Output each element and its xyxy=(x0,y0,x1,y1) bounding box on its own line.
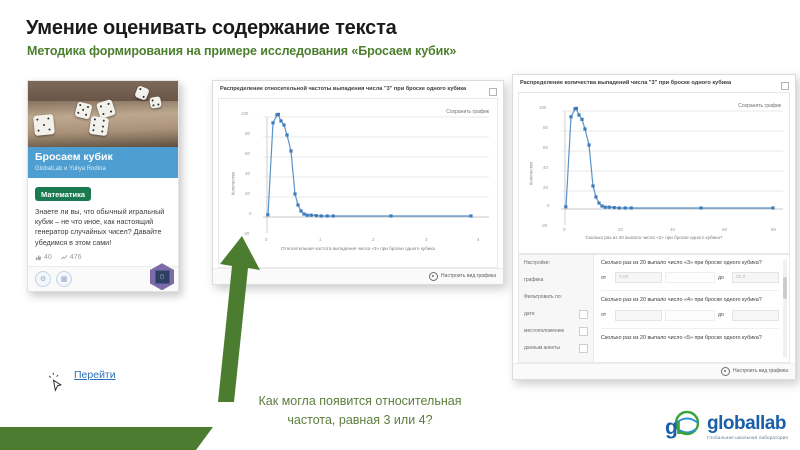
page-subtitle: Методика формирования на примере исследо… xyxy=(27,44,456,58)
card-header-band: Бросаем кубик GlobalLab и Yuliya Rodina xyxy=(28,147,178,178)
ytick: -20 xyxy=(541,223,547,228)
xtick: 20 xyxy=(618,227,623,232)
question-label: Сколько раз из 20 выпало число «5» при б… xyxy=(601,335,779,343)
xtick: 40 xyxy=(670,227,675,232)
to-input[interactable]: 20.0 xyxy=(732,272,779,283)
xtick: 4 xyxy=(477,237,479,242)
checkbox-icon[interactable] xyxy=(579,344,588,353)
callout-line-2: частота, равная 3 или 4? xyxy=(195,411,525,430)
filter-by-label: Фильтровать по: xyxy=(524,294,588,302)
question-label: Сколько раз из 20 выпало число «3» при б… xyxy=(601,260,779,268)
chart-right-plot[interactable]: Сохранить график Количество xyxy=(518,92,790,254)
globallab-logo: g L globallab Глобальная школьная лабора… xyxy=(665,410,788,440)
xtick: 1 xyxy=(319,237,321,242)
expand-icon[interactable] xyxy=(781,82,789,90)
ytick: 100 xyxy=(241,111,248,116)
range-spacer xyxy=(665,310,715,321)
settings-scrollbar[interactable] xyxy=(783,259,787,358)
filter-option-survey[interactable]: данным анкеты xyxy=(524,345,588,353)
filter-questions-list: Сколько раз из 20 выпало число «3» при б… xyxy=(594,255,789,362)
range-row: от до xyxy=(601,310,779,321)
die-icon xyxy=(74,101,92,119)
likes-stat: 40 xyxy=(35,254,52,261)
card-view-icon[interactable]: ▦ xyxy=(56,271,72,287)
ytick: 80 xyxy=(245,131,250,136)
go-link[interactable]: Перейти xyxy=(74,369,116,381)
dice-photo xyxy=(28,81,178,147)
svg-text:L: L xyxy=(676,418,687,438)
thumbs-up-icon xyxy=(35,254,42,261)
filter-option-date-label: дате xyxy=(524,311,535,317)
ytick: 80 xyxy=(543,125,548,130)
card-stats: 40 476 xyxy=(35,254,171,261)
ytick: 0 xyxy=(249,211,251,216)
views-count: 476 xyxy=(70,254,82,261)
configure-chart-button-right[interactable]: Настроить вид графика xyxy=(733,368,788,374)
xtick: 80 xyxy=(771,227,776,232)
checkbox-icon[interactable] xyxy=(579,327,588,336)
logo-text-block: globallab Глобальная школьная лаборатори… xyxy=(707,414,788,440)
subject-tag[interactable]: Математика xyxy=(35,187,91,201)
settings-pane: Настройки: графика Фильтровать по: дате … xyxy=(518,254,790,363)
eye-icon xyxy=(721,367,730,376)
from-label: от xyxy=(601,312,612,318)
card-author: GlobalLab и Yuliya Rodina xyxy=(35,166,171,172)
settings-sidebar: Настройки: графика Фильтровать по: дате … xyxy=(519,255,594,362)
settings-graph-label: графика xyxy=(524,277,588,285)
click-cursor-icon xyxy=(48,372,70,394)
ytick: 40 xyxy=(543,165,548,170)
filter-option-date[interactable]: дате xyxy=(524,311,588,319)
badge-inner-icon: ▢ xyxy=(155,270,170,284)
chart-left-svg xyxy=(221,101,499,251)
chart-right-xlabel: Сколько раз из 20 выпало число «3» при б… xyxy=(519,235,789,241)
likes-count: 40 xyxy=(44,254,52,261)
xtick: 3 xyxy=(425,237,427,242)
pointer-arrow-icon xyxy=(186,230,276,405)
gear-icon[interactable]: ⚙ xyxy=(35,271,51,287)
card-footer: ⚙ ▦ ▢ xyxy=(28,266,178,291)
chart-left-heading: Распределение относительной частоты выпа… xyxy=(213,81,503,98)
die-icon xyxy=(33,114,55,136)
ytick: 40 xyxy=(245,171,250,176)
callout-line-1: Как могла появится относительная xyxy=(195,392,525,411)
divider xyxy=(601,290,779,291)
logo-tagline: Глобальная школьная лаборатория xyxy=(707,435,788,440)
project-card[interactable]: Бросаем кубик GlobalLab и Yuliya Rodina … xyxy=(27,80,179,292)
from-label: от xyxy=(601,275,612,281)
callout-question: Как могла появится относительная частота… xyxy=(195,392,525,430)
ytick: 20 xyxy=(245,191,250,196)
question-label: Сколько раз из 20 выпало число «4» при б… xyxy=(601,297,779,305)
to-label: до xyxy=(718,275,729,281)
ytick: 0 xyxy=(547,203,549,208)
ytick: 20 xyxy=(543,185,548,190)
chart-line-icon xyxy=(61,254,68,261)
filter-option-location[interactable]: местоположению xyxy=(524,328,588,336)
from-input[interactable] xyxy=(615,310,662,321)
ytick: 100 xyxy=(539,105,546,110)
eye-icon xyxy=(429,272,438,281)
filter-option-survey-label: данным анкеты xyxy=(524,345,560,351)
configure-chart-button-left[interactable]: Настроить вид графика xyxy=(441,273,496,279)
scrollbar-thumb[interactable] xyxy=(783,277,787,299)
checkbox-icon[interactable] xyxy=(579,310,588,319)
globe-logo-icon: g L xyxy=(665,410,703,440)
ytick: 60 xyxy=(245,151,250,156)
xtick: 0 xyxy=(563,227,565,232)
divider xyxy=(601,328,779,329)
expand-icon[interactable] xyxy=(489,88,497,96)
ytick: 60 xyxy=(543,145,548,150)
range-spacer xyxy=(665,272,715,283)
card-body: Математика Знаете ли вы, что обычный игр… xyxy=(28,178,178,267)
filter-option-location-label: местоположению xyxy=(524,328,564,334)
footer-green-band xyxy=(0,427,213,450)
chart-right-heading-text: Распределение количества выпадений числа… xyxy=(520,80,731,86)
chart-right-heading: Распределение количества выпадений числа… xyxy=(513,75,795,92)
page-title: Умение оценивать содержание текста xyxy=(26,17,397,40)
to-label: до xyxy=(718,312,729,318)
slide-root: Умение оценивать содержание текста Метод… xyxy=(0,0,800,450)
from-input[interactable]: 0.00 xyxy=(615,272,662,283)
badge-hex-icon: ▢ xyxy=(150,263,174,290)
card-title: Бросаем кубик xyxy=(35,152,171,164)
views-stat: 476 xyxy=(61,254,82,261)
card-description: Знаете ли вы, что обычный игральный куби… xyxy=(35,207,171,249)
chart-right-footer: Настроить вид графика xyxy=(513,363,795,379)
to-input[interactable] xyxy=(732,310,779,321)
chart-left-heading-text: Распределение относительной частоты выпа… xyxy=(220,86,466,92)
range-row: от 0.00 до 20.0 xyxy=(601,272,779,283)
die-icon xyxy=(149,96,162,109)
xtick: 2 xyxy=(372,237,374,242)
chart-panel-right: Распределение количества выпадений числа… xyxy=(512,74,796,380)
chart-right-svg xyxy=(521,95,791,240)
die-icon xyxy=(89,116,109,136)
xtick: 60 xyxy=(722,227,727,232)
logo-name: globallab xyxy=(707,414,788,433)
settings-label: Настройки: xyxy=(524,260,588,268)
